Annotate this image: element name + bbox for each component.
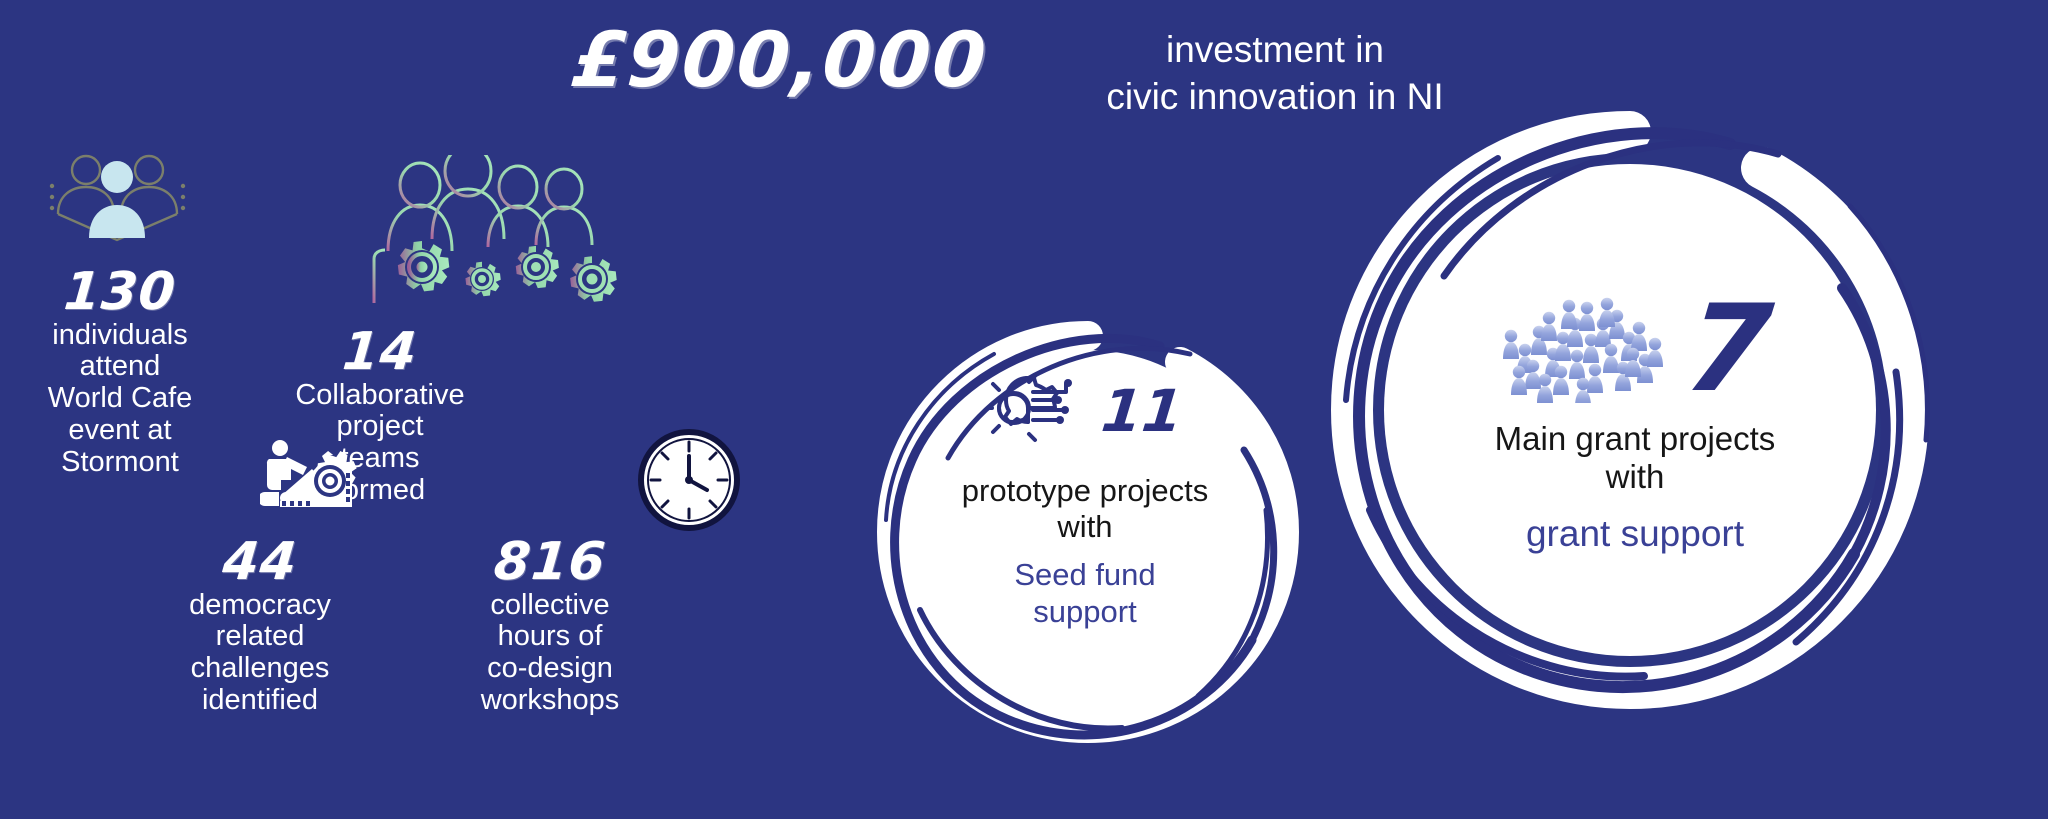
main-grant-accent-line-0: grant support (1415, 512, 1855, 556)
prototype-circle-content: 11 prototype projects with Seed fund sup… (925, 370, 1245, 631)
gear-circuit-icon (988, 370, 1084, 451)
prototype-accent-line-1: support (925, 593, 1245, 630)
stat-hours-caption-2: co-design (440, 653, 660, 685)
stat-challenges-caption-0: democracy (150, 590, 370, 622)
infographic-canvas: £900,000 investment in civic innovation … (0, 0, 2048, 819)
clock-icon (637, 428, 741, 532)
headline-amount: £900,000 (552, 22, 1007, 98)
prototype-body: prototype projects with (925, 473, 1245, 544)
main-grant-circle-content: 7 Main grant projects with grant support (1415, 290, 1855, 556)
stat-individuals-caption-0: individuals (10, 320, 230, 352)
stat-challenges-caption-1: related (150, 621, 370, 653)
stat-challenges-caption-3: identified (150, 685, 370, 717)
stat-teams-number: 14 (268, 325, 493, 380)
prototype-accent: Seed fund support (925, 556, 1245, 630)
prototype-body-line-0: prototype projects (925, 473, 1245, 509)
stat-individuals-caption-3: event at (10, 415, 230, 447)
crowd-pawns-icon (1499, 293, 1669, 408)
stat-individuals-caption-4: Stormont (10, 447, 230, 479)
team-gears-icon (370, 155, 620, 310)
main-grant-number: 7 (1681, 290, 1777, 410)
stat-challenges-number: 44 (148, 535, 373, 590)
prototype-body-line-1: with (925, 509, 1245, 545)
main-grant-body-line-1: with (1415, 458, 1855, 496)
prototype-accent-line-0: Seed fund (925, 556, 1245, 593)
stat-teams-caption-0: Collaborative (270, 380, 490, 412)
person-pushing-gear-icon (260, 435, 360, 520)
stat-hours-caption-1: hours of (440, 621, 660, 653)
stat-challenges-caption-2: challenges (150, 653, 370, 685)
stat-individuals-caption-2: World Cafe (10, 383, 230, 415)
main-grant-accent: grant support (1415, 512, 1855, 556)
headline-caption-line-1: investment in (1005, 26, 1545, 73)
stat-individuals: 130 individuals attend World Cafe event … (10, 265, 230, 479)
stat-hours: 816 collective hours of co-design worksh… (440, 535, 660, 717)
prototype-headline-row: 11 (925, 370, 1245, 451)
main-grant-body-line-0: Main grant projects (1415, 420, 1855, 458)
stat-hours-number: 816 (438, 535, 663, 590)
headline-caption: investment in civic innovation in NI (1005, 26, 1545, 121)
three-people-icon (45, 150, 190, 245)
stat-individuals-number: 130 (8, 265, 233, 320)
stat-challenges: 44 democracy related challenges identifi… (150, 535, 370, 717)
stat-hours-caption-3: workshops (440, 685, 660, 717)
stat-individuals-caption-1: attend (10, 351, 230, 383)
stat-hours-caption-0: collective (440, 590, 660, 622)
main-grant-headline-row: 7 (1415, 290, 1855, 410)
main-grant-body: Main grant projects with (1415, 420, 1855, 496)
prototype-number: 11 (1099, 382, 1186, 440)
